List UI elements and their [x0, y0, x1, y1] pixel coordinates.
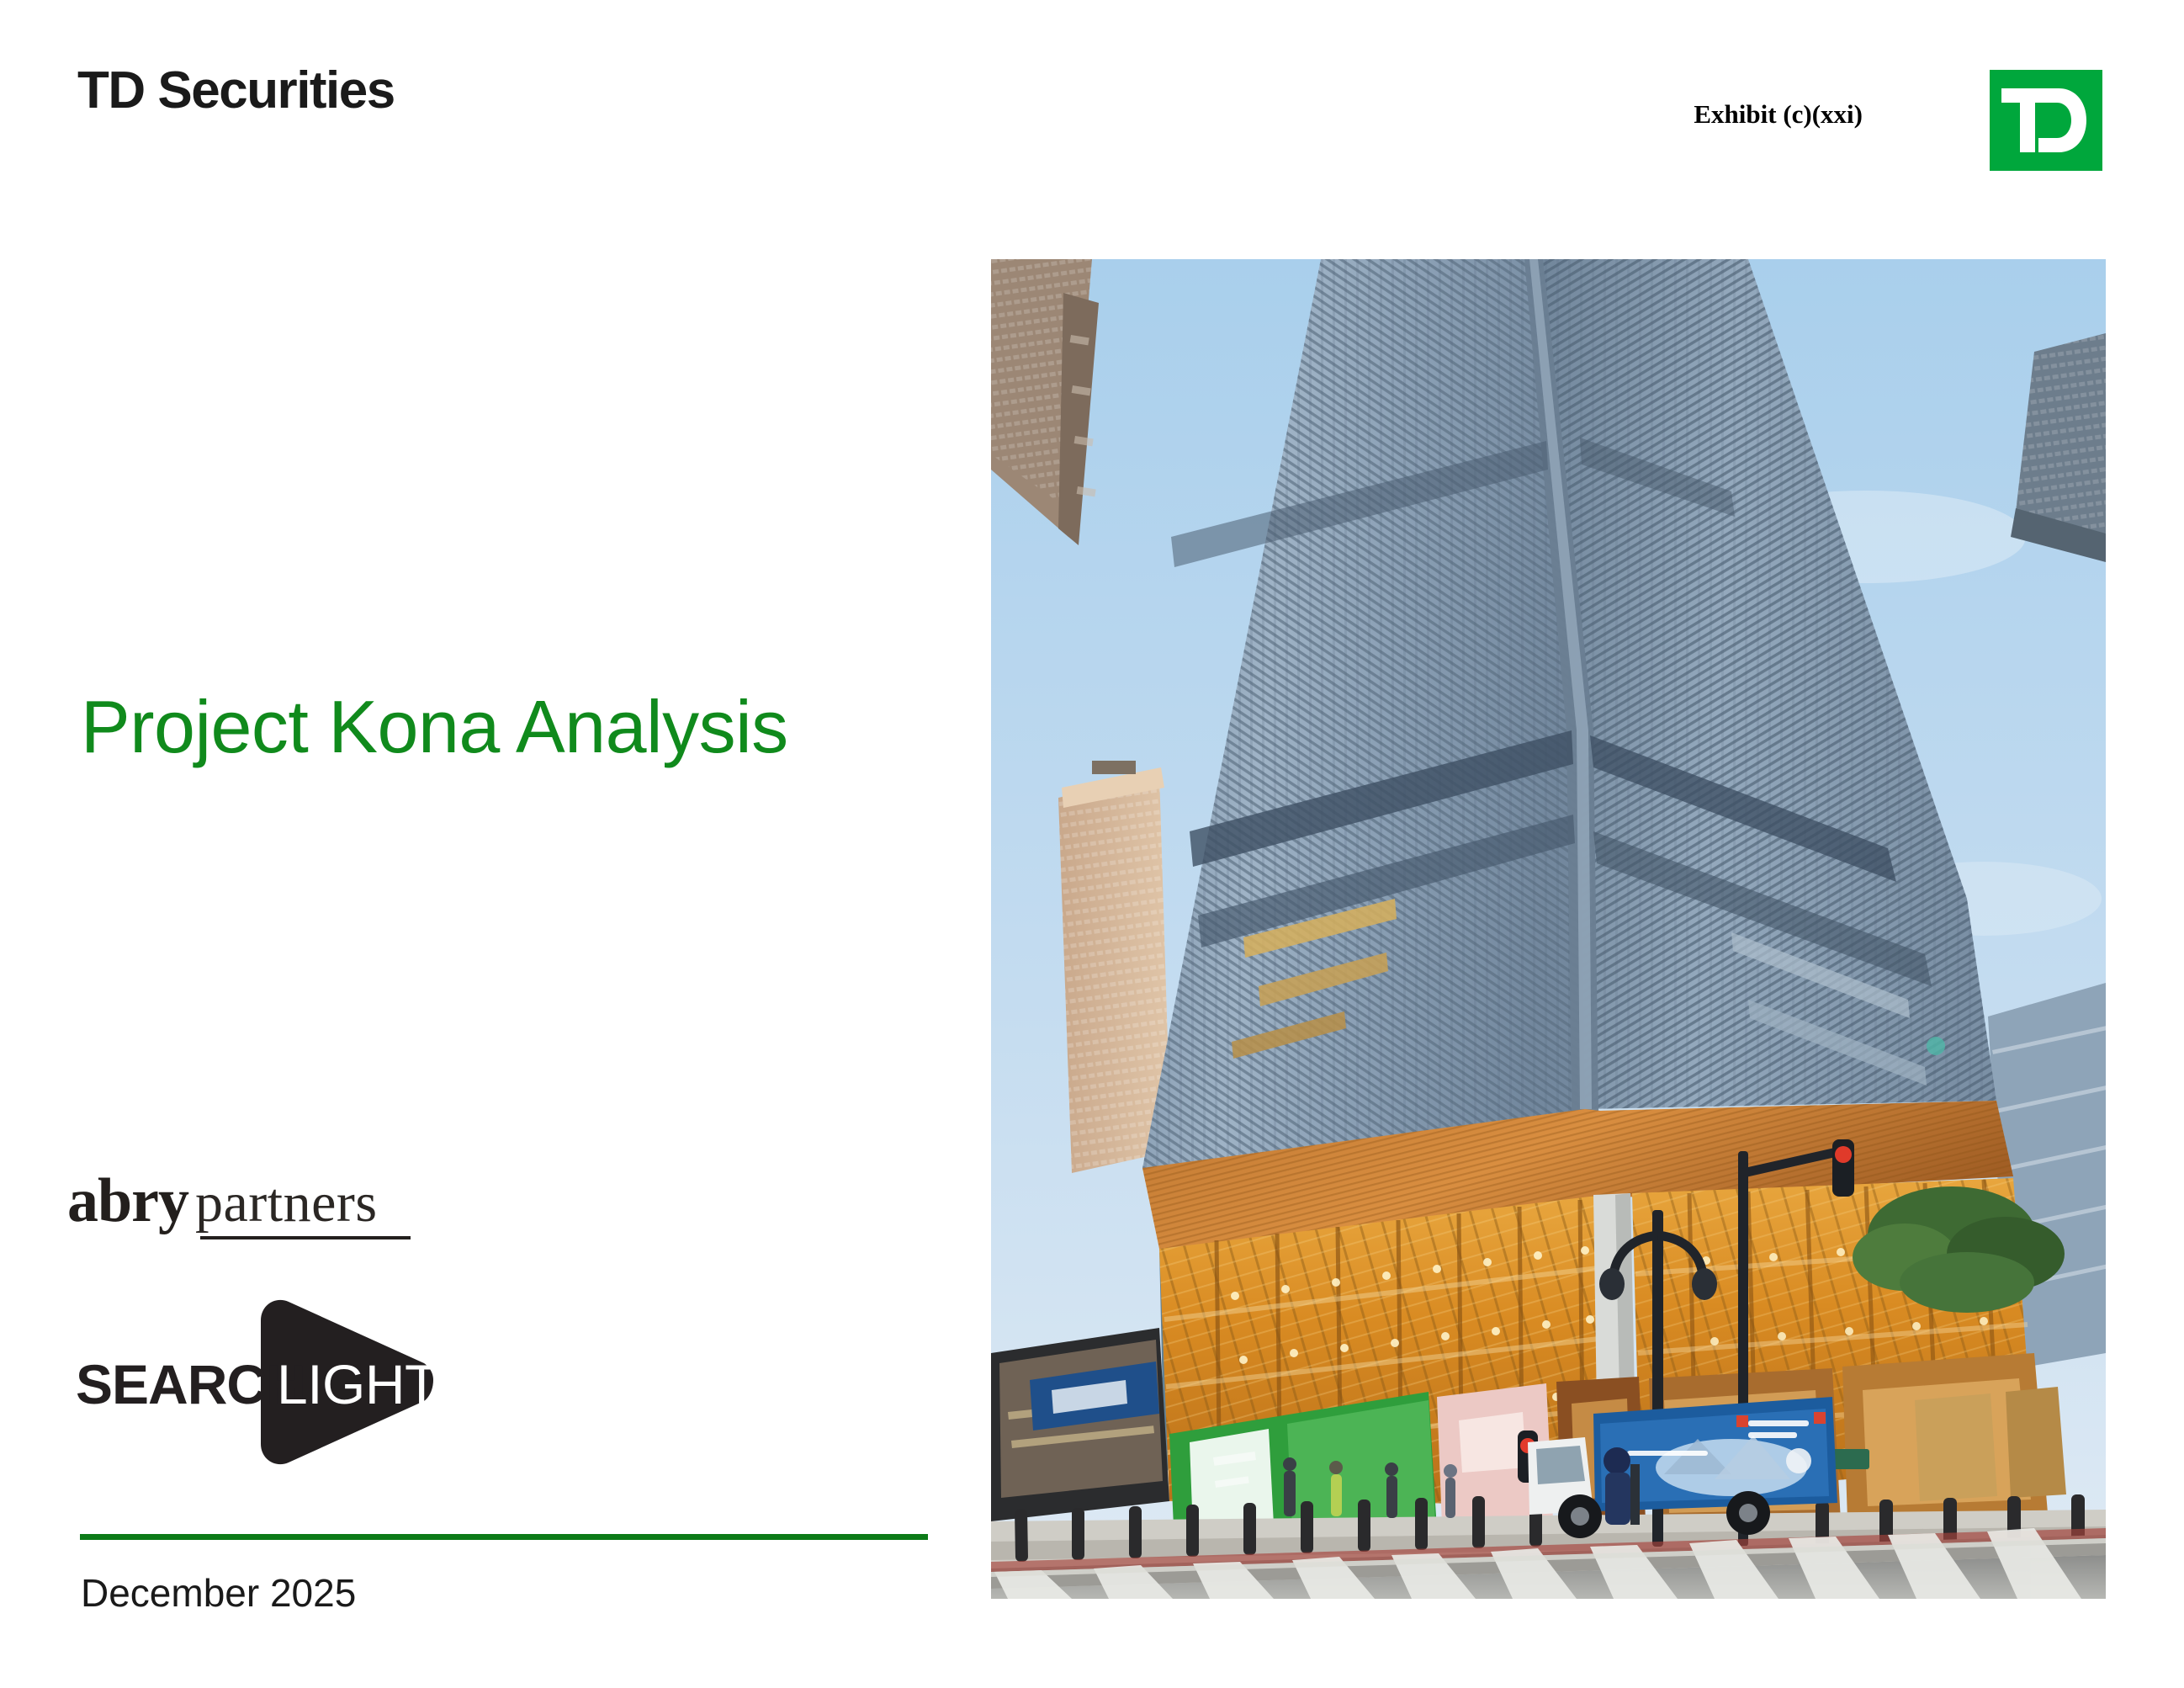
- td-logo: [1990, 70, 2102, 171]
- abry-underline-rule: [200, 1236, 411, 1239]
- abry-wordmark: abry: [67, 1170, 188, 1232]
- searchlight-light-wordmark: LIGHT: [277, 1356, 438, 1412]
- partners-wordmark: partners: [195, 1176, 378, 1231]
- searchlight-search-wordmark: SEARCH: [76, 1356, 305, 1412]
- slide-title: Project Kona Analysis: [81, 688, 788, 766]
- cover-photograph: [991, 259, 2106, 1599]
- abry-partners-logo: abrypartners: [67, 1170, 421, 1245]
- page-title: TD Securities: [77, 61, 395, 120]
- date-label: December 2025: [81, 1570, 356, 1616]
- searchlight-logo: SEARCH LIGHT: [67, 1296, 437, 1473]
- green-divider-rule: [80, 1534, 928, 1540]
- exhibit-label: Exhibit (c)(xxi): [1694, 99, 1863, 130]
